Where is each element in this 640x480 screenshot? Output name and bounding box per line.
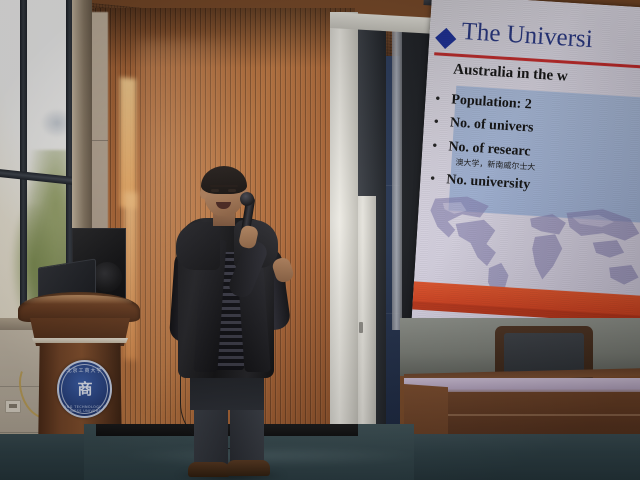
presenter-shoe-right bbox=[226, 460, 270, 476]
slide-header-title: The Universi bbox=[461, 18, 594, 54]
presentation-slide: The Universi Australia in the w •Populat… bbox=[411, 0, 640, 338]
presenter-shoe-left bbox=[188, 462, 230, 477]
presenter-shoulder-left bbox=[176, 222, 220, 270]
door-handle[interactable] bbox=[359, 322, 363, 333]
crest-glyph: 商 bbox=[77, 382, 91, 397]
presenter-eye-left bbox=[211, 189, 219, 192]
photo-scene: 北京工商大学 商 BEIJING TECHNOLOGY AND BUSINESS… bbox=[0, 0, 640, 480]
diamond-bullet-icon bbox=[435, 28, 456, 49]
presenter-brow bbox=[210, 185, 238, 187]
crest-bottom-text: BEIJING TECHNOLOGY AND BUSINESS UNIVERSI… bbox=[57, 405, 112, 413]
wall-power-outlet[interactable] bbox=[5, 400, 21, 413]
sunlight-patch-upper bbox=[120, 77, 136, 209]
bullet-dot: • bbox=[435, 90, 452, 107]
crest-top-text: 北京工商大学 bbox=[57, 367, 112, 374]
presenter-leg-left bbox=[194, 400, 228, 470]
bullet-dot: • bbox=[430, 170, 447, 187]
lectern-top-highlight bbox=[24, 295, 132, 304]
window-mullion-vertical bbox=[20, 0, 27, 336]
bullet-dot: • bbox=[434, 113, 451, 130]
metal-door-jamb bbox=[392, 30, 402, 330]
speaker-cone bbox=[92, 262, 122, 292]
bullet-dot: • bbox=[432, 137, 449, 154]
university-crest: 北京工商大学 商 BEIJING TECHNOLOGY AND BUSINESS… bbox=[57, 360, 112, 418]
lectern-trim-stripe bbox=[32, 338, 128, 343]
slide-subtitle: Australia in the w bbox=[453, 62, 568, 86]
white-column bbox=[330, 12, 358, 442]
floor-reflection bbox=[120, 446, 420, 466]
presenter-eye-right bbox=[228, 189, 236, 192]
projection-screen: The Universi Australia in the w •Populat… bbox=[411, 0, 640, 338]
